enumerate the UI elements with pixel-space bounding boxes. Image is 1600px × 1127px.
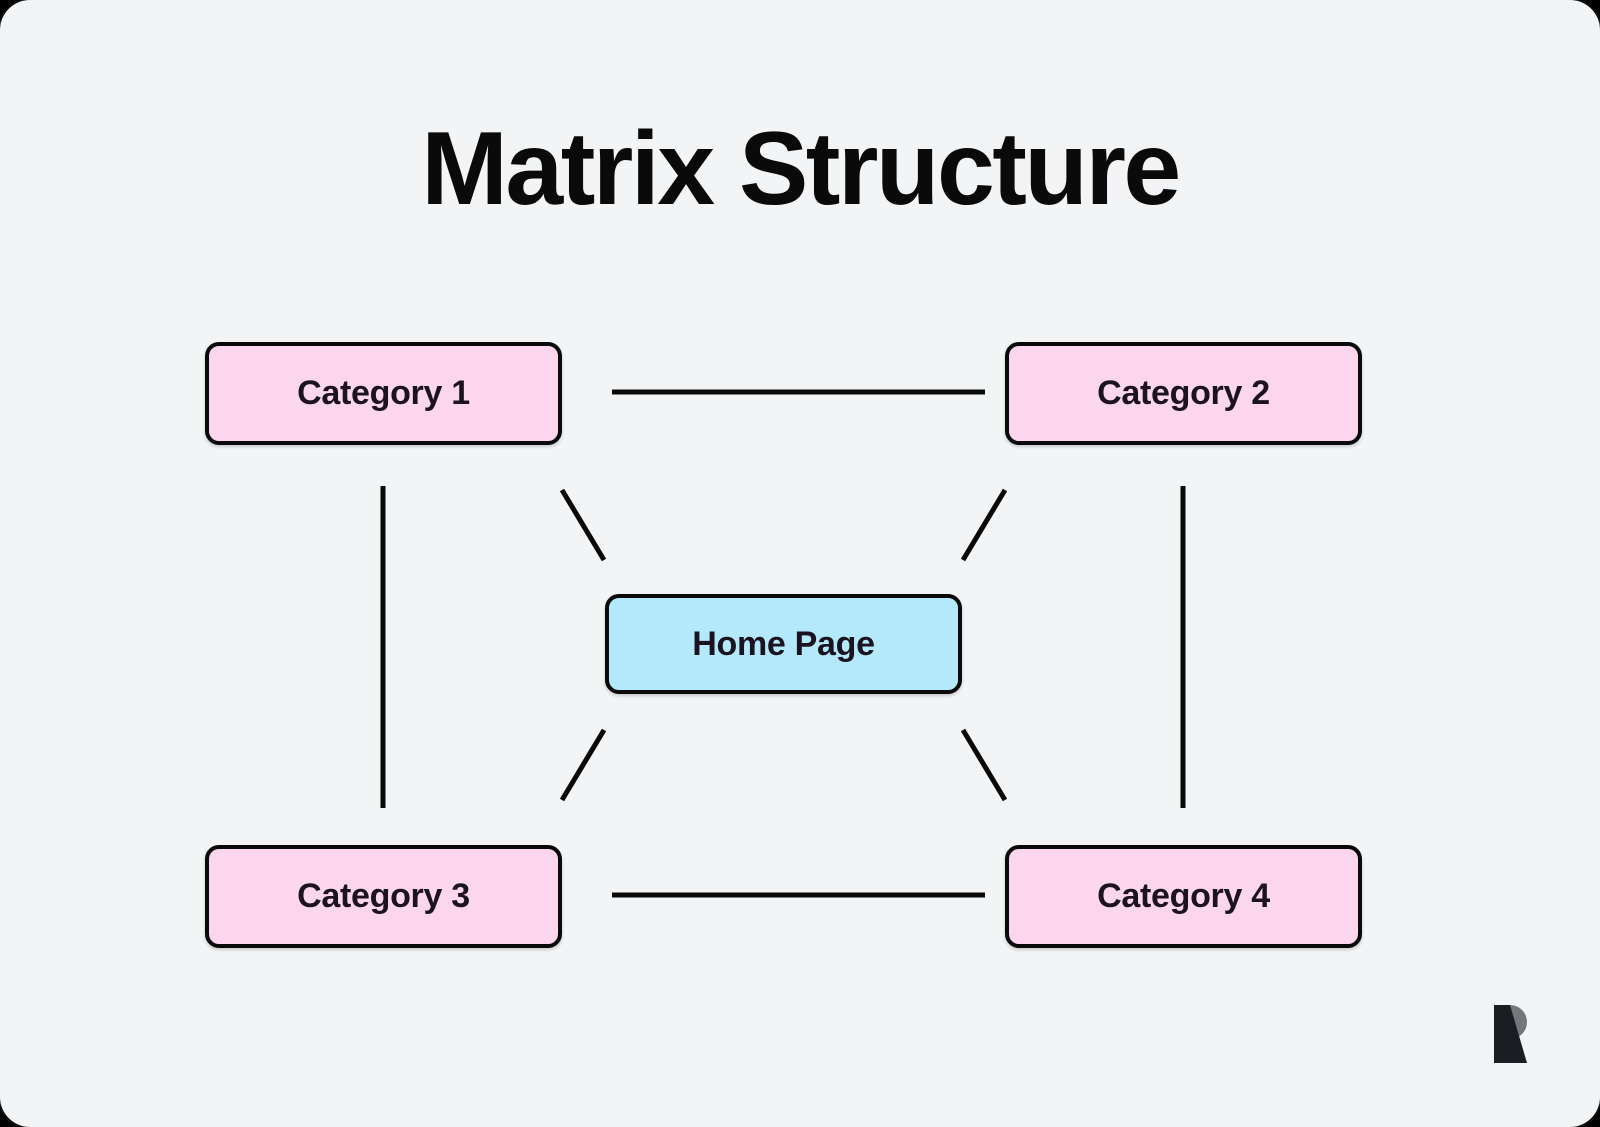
node-label: Home Page [692,625,874,664]
node-label: Category 4 [1097,877,1270,916]
node-category-3[interactable]: Category 3 [205,845,562,948]
edge-cat2-home [963,490,1005,560]
page-title: Matrix Structure [0,112,1600,226]
edge-cat4-home [963,730,1005,800]
node-label: Category 2 [1097,374,1270,413]
node-category-2[interactable]: Category 2 [1005,342,1362,445]
edge-cat1-home [562,490,604,560]
edge-cat3-home [562,730,604,800]
corner-mask-top-right [1570,0,1600,30]
corner-mask-bottom-left [0,1097,30,1127]
node-category-1[interactable]: Category 1 [205,342,562,445]
node-home-page[interactable]: Home Page [605,594,962,694]
brand-logo-icon [1480,1003,1538,1065]
node-label: Category 1 [297,374,470,413]
diagram-canvas: Matrix Structure Category 1 Category 2 C… [0,0,1600,1127]
corner-mask-top-left [0,0,30,30]
node-category-4[interactable]: Category 4 [1005,845,1362,948]
corner-mask-bottom-right [1570,1097,1600,1127]
node-label: Category 3 [297,877,470,916]
